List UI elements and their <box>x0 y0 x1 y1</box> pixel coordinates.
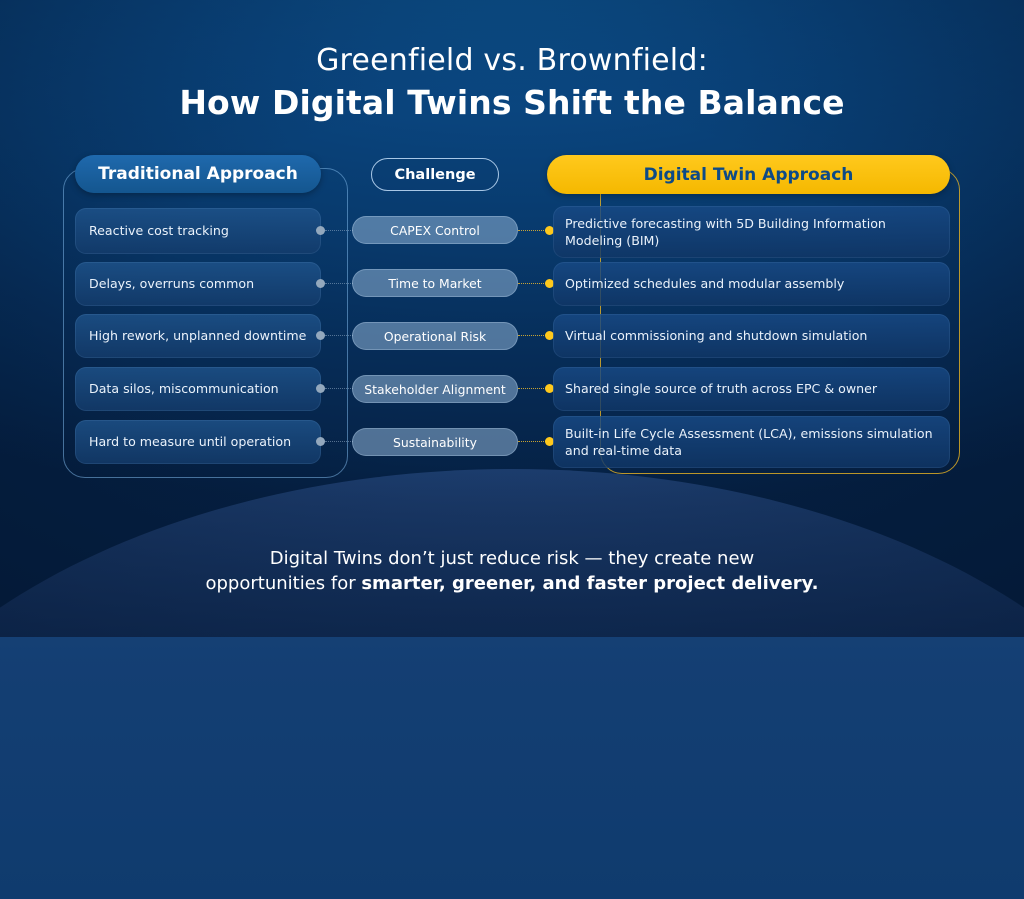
connector-dash-left <box>325 441 353 442</box>
connector-dot-left <box>316 331 325 340</box>
title-main-line: How Digital Twins Shift the Balance <box>0 82 1024 125</box>
footer-line-2-bold: smarter, greener, and faster project del… <box>361 573 818 594</box>
traditional-cell: High rework, unplanned downtime <box>75 314 321 358</box>
connector-dot-left <box>316 279 325 288</box>
connector-dot-left <box>316 226 325 235</box>
column-header-digital-twin: Digital Twin Approach <box>547 155 950 194</box>
page-title: Greenfield vs. Brownfield: How Digital T… <box>0 42 1024 125</box>
connector-dash-left <box>325 335 353 336</box>
connector-dash-right <box>518 230 546 231</box>
challenge-chip: Sustainability <box>352 428 518 456</box>
digital-twin-cell: Optimized schedules and modular assembly <box>553 262 950 306</box>
column-header-challenge: Challenge <box>371 158 499 191</box>
traditional-cell: Hard to measure until operation <box>75 420 321 464</box>
footer-line-1: Digital Twins don’t just reduce risk — t… <box>0 546 1024 572</box>
connector-dash-right <box>518 388 546 389</box>
connector-dot-left <box>316 384 325 393</box>
connector-dash-left <box>325 388 353 389</box>
digital-twin-cell: Shared single source of truth across EPC… <box>553 367 950 411</box>
traditional-cell: Reactive cost tracking <box>75 208 321 254</box>
digital-twin-cell: Built-in Life Cycle Assessment (LCA), em… <box>553 416 950 468</box>
challenge-chip: CAPEX Control <box>352 216 518 244</box>
title-subtitle-line: Greenfield vs. Brownfield: <box>0 42 1024 80</box>
connector-dot-left <box>316 437 325 446</box>
footer-line-2: opportunities for smarter, greener, and … <box>0 571 1024 597</box>
footer-line-2-normal: opportunities for <box>205 573 361 594</box>
digital-twin-cell: Virtual commissioning and shutdown simul… <box>553 314 950 358</box>
footer-tagline: Digital Twins don’t just reduce risk — t… <box>0 546 1024 597</box>
column-header-traditional: Traditional Approach <box>75 155 321 193</box>
connector-dash-right <box>518 441 546 442</box>
connector-dash-left <box>325 283 353 284</box>
traditional-cell: Delays, overruns common <box>75 262 321 306</box>
traditional-cell: Data silos, miscommunication <box>75 367 321 411</box>
challenge-chip: Stakeholder Alignment <box>352 375 518 403</box>
challenge-chip: Operational Risk <box>352 322 518 350</box>
challenge-chip: Time to Market <box>352 269 518 297</box>
connector-dash-right <box>518 283 546 284</box>
connector-dash-right <box>518 335 546 336</box>
connector-dash-left <box>325 230 353 231</box>
digital-twin-cell: Predictive forecasting with 5D Building … <box>553 206 950 258</box>
